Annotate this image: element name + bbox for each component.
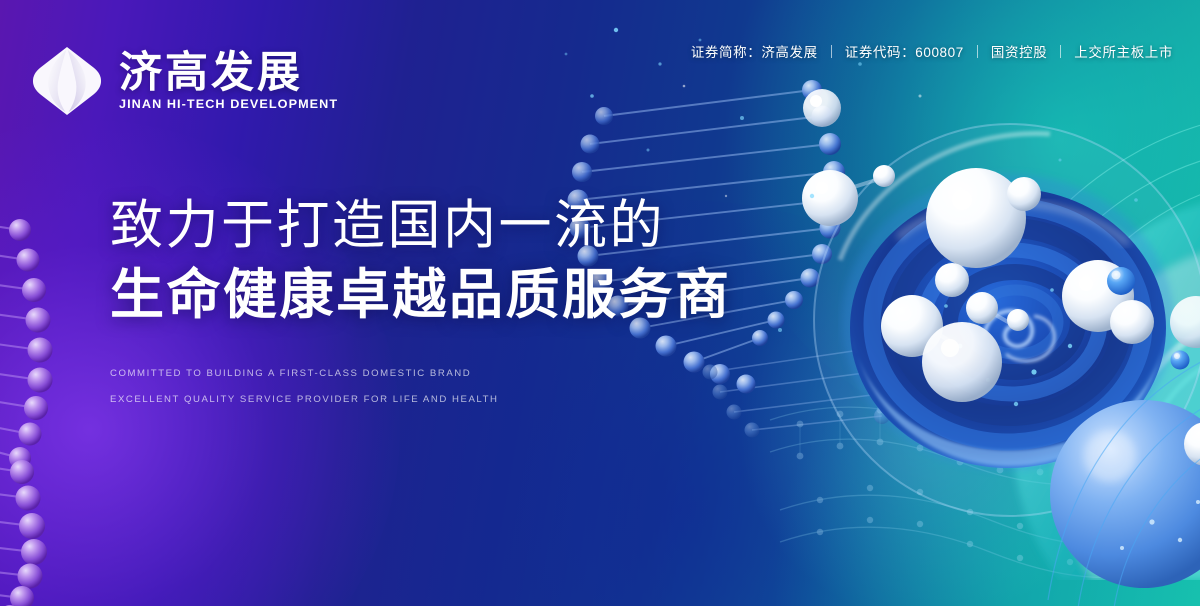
company-logo[interactable]: 济高发展 JINAN HI-TECH DEVELOPMENT [30, 44, 334, 118]
stock-info-strip: 证券简称：济高发展 证券代码：600807 国资控股 上交所主板上市 [678, 41, 1186, 61]
headline-line-2: 生命健康卓越品质服务商 [110, 265, 732, 325]
logo-text-block: 济高发展 JINAN HI-TECH DEVELOPMENT [119, 52, 334, 110]
logo-name-cn: 济高发展 [119, 52, 334, 95]
glass-bubble-ring [800, 110, 1200, 530]
logo-name-en: JINAN HI-TECH DEVELOPMENT [119, 98, 338, 110]
state-owned-badge: 国资控股 [978, 41, 1060, 61]
stock-short-name: 证券简称：济高发展 [678, 41, 831, 61]
listing-board-badge: 上交所主板上市 [1061, 41, 1186, 61]
blue-vortex-disc [838, 166, 1178, 496]
blue-orb-small-b [1168, 348, 1192, 372]
headline-line-1: 致力于打造国内一流的 [110, 196, 732, 255]
cyan-core-glow [720, 240, 1140, 606]
purple-glow [0, 120, 400, 606]
headline-block: 致力于打造国内一流的 生命健康卓越品质服务商 [110, 196, 732, 326]
molecule-sphere-cluster [780, 70, 1200, 550]
blue-orb-small-c [800, 86, 844, 130]
subtitle-line-2: EXCELLENT QUALITY SERVICE PROVIDER FOR L… [110, 395, 498, 405]
teal-wave-ribbons [820, 60, 1200, 580]
subtitle-block: COMMITTED TO BUILDING A FIRST-CLASS DOME… [110, 369, 498, 404]
jigao-diamond-leaf-logo-icon [30, 44, 104, 118]
subtitle-line-1: COMMITTED TO BUILDING A FIRST-CLASS DOME… [110, 369, 498, 379]
teal-glow [720, 0, 1200, 450]
stock-code: 证券代码：600807 [832, 41, 977, 61]
teal-glow-lower [760, 316, 1200, 606]
concentric-arc-lines [1000, 330, 1200, 606]
promotional-banner: 济高发展 JINAN HI-TECH DEVELOPMENT 证券简称：济高发展… [0, 0, 1200, 606]
blue-sphere-large [1048, 398, 1200, 606]
blue-orb-small-a [1104, 264, 1138, 298]
dna-helix-bottom-faint [760, 380, 1180, 606]
